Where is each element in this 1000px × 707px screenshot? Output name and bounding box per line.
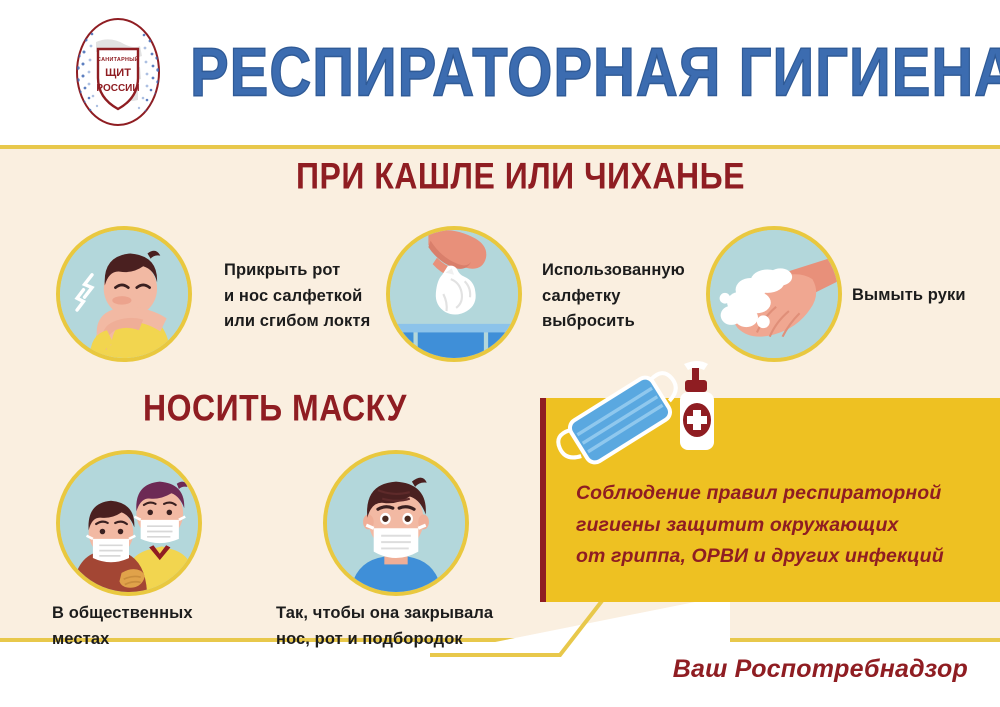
logo-line-3: РОССИИ <box>96 83 139 94</box>
washing-hands-with-soap-icon <box>706 226 842 362</box>
callout-illustration <box>552 358 732 468</box>
rospotrebnadzor-emblem-logo: САНИТАРНЫЙ ЩИТ РОССИИ <box>62 16 174 128</box>
logo-line-2: ЩИТ <box>105 67 131 79</box>
caption-public-places: В общественных местах <box>52 601 232 652</box>
poster-header: САНИТАРНЫЙ ЩИТ РОССИИ РЕСПИРАТОРНАЯ ГИГИ… <box>0 0 1000 145</box>
caption-discard-tissue: Использованную салфетку выбросить <box>542 258 702 335</box>
logo-line-1: САНИТАРНЫЙ <box>97 55 139 63</box>
section-heading-cough: ПРИ КАШЛЕ ИЛИ ЧИХАНЬЕ <box>296 155 745 198</box>
caption-cover-nose-mouth-chin: Так, чтобы она закрывала нос, рот и подб… <box>276 601 516 652</box>
callout-message: Соблюдение правил респираторной гигиены … <box>576 478 996 573</box>
caption-cover-mouth: Прикрыть рот и нос салфеткой или сгибом … <box>224 258 384 335</box>
page-title: РЕСПИРАТОРНАЯ ГИГИЕНА <box>190 25 960 119</box>
two-people-wearing-masks-icon <box>56 450 202 596</box>
caption-wash-hands: Вымыть руки <box>852 283 1000 309</box>
footer-signature: Ваш Роспотребнадзор <box>673 655 968 684</box>
person-wearing-mask-correctly-icon <box>323 450 469 596</box>
section-heading-mask: НОСИТЬ МАСКУ <box>143 387 407 430</box>
person-coughing-into-elbow-icon <box>56 226 192 362</box>
poster-root: САНИТАРНЫЙ ЩИТ РОССИИ РЕСПИРАТОРНАЯ ГИГИ… <box>0 0 1000 707</box>
surgical-mask-icon <box>552 365 689 468</box>
hand-dropping-tissue-in-bin-icon <box>386 226 522 362</box>
hand-sanitizer-bottle-icon <box>680 361 714 450</box>
